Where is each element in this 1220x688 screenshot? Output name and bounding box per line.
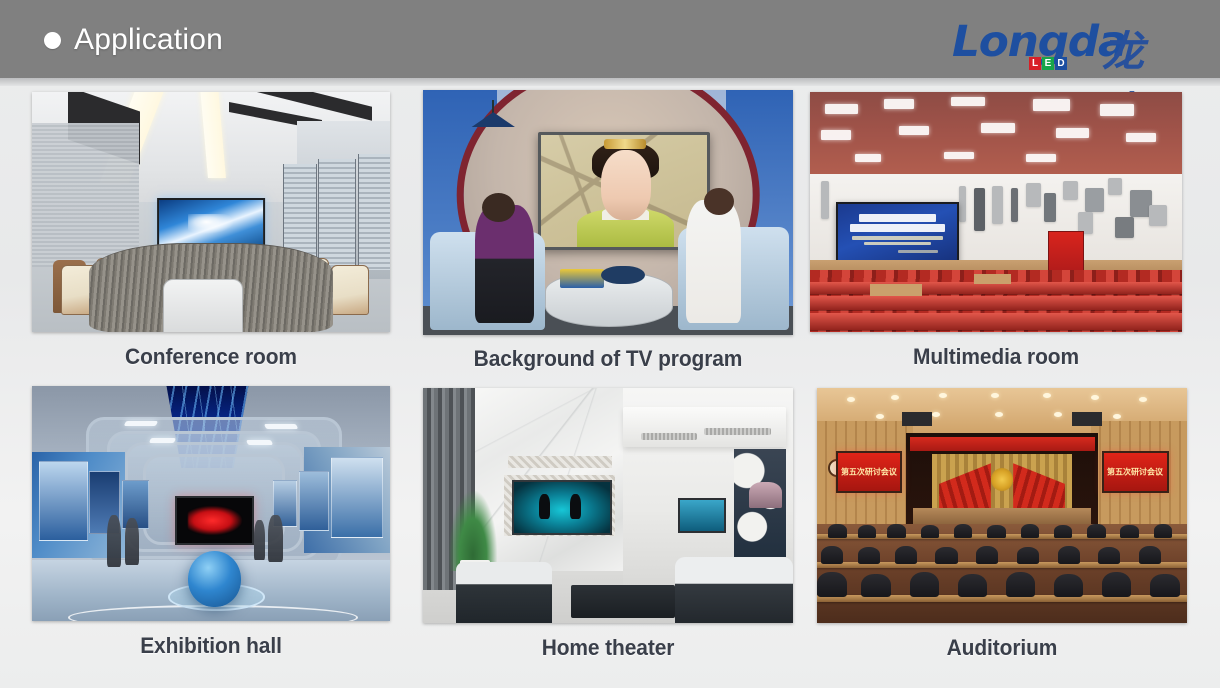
caption-tv-program: Background of TV program [436,346,780,372]
caption-exhibition-hall: Exhibition hall [45,633,378,659]
application-gallery: Conference room [0,86,1220,688]
gallery-item-tv-program[interactable]: Background of TV program [423,90,793,335]
logo-led-letter-d: D [1055,57,1067,70]
brand-logo: Longda 龙大 L E D [952,18,1184,70]
auditorium-screen-left-text: 第五次研讨会议 [841,467,897,478]
photo-exhibition-hall[interactable] [32,386,390,621]
globe-sculpture [188,551,242,607]
gallery-item-auditorium[interactable]: 第五次研讨会议 第五次研讨会议 [817,388,1187,623]
led-display-auditorium-left: 第五次研讨会议 [836,451,903,493]
caption-multimedia-room: Multimedia room [823,344,1169,370]
photo-conference-room[interactable] [32,92,390,332]
photo-tv-program[interactable] [423,90,793,335]
gallery-item-exhibition-hall[interactable]: Exhibition hall [32,386,390,621]
logo-led-letter-e: E [1042,57,1054,70]
page-title-group: Application [44,24,223,56]
led-display-multimedia [836,202,959,266]
header-underline [0,78,1220,86]
led-display-auditorium-right: 第五次研讨会议 [1102,451,1169,493]
gallery-item-home-theater[interactable]: Home theater [423,388,793,623]
page-title: Application [74,24,223,56]
caption-home-theater: Home theater [436,635,780,661]
auditorium-screen-right-text: 第五次研讨会议 [1107,467,1163,478]
photo-auditorium[interactable]: 第五次研讨会议 第五次研讨会议 [817,388,1187,623]
led-display-home-theater [512,480,612,536]
gallery-item-conference-room[interactable]: Conference room [32,92,390,332]
gallery-item-multimedia-room[interactable]: Multimedia room [810,92,1182,332]
photo-home-theater[interactable] [423,388,793,623]
caption-auditorium: Auditorium [830,635,1174,661]
bullet-dot-icon [44,32,61,49]
led-display-conference [157,198,265,250]
logo-led-letter-l: L [1029,57,1041,70]
photo-multimedia-room[interactable] [810,92,1182,332]
led-display-exhibition [175,496,254,545]
caption-conference-room: Conference room [45,344,378,370]
logo-led-badge: L E D [1029,57,1067,70]
